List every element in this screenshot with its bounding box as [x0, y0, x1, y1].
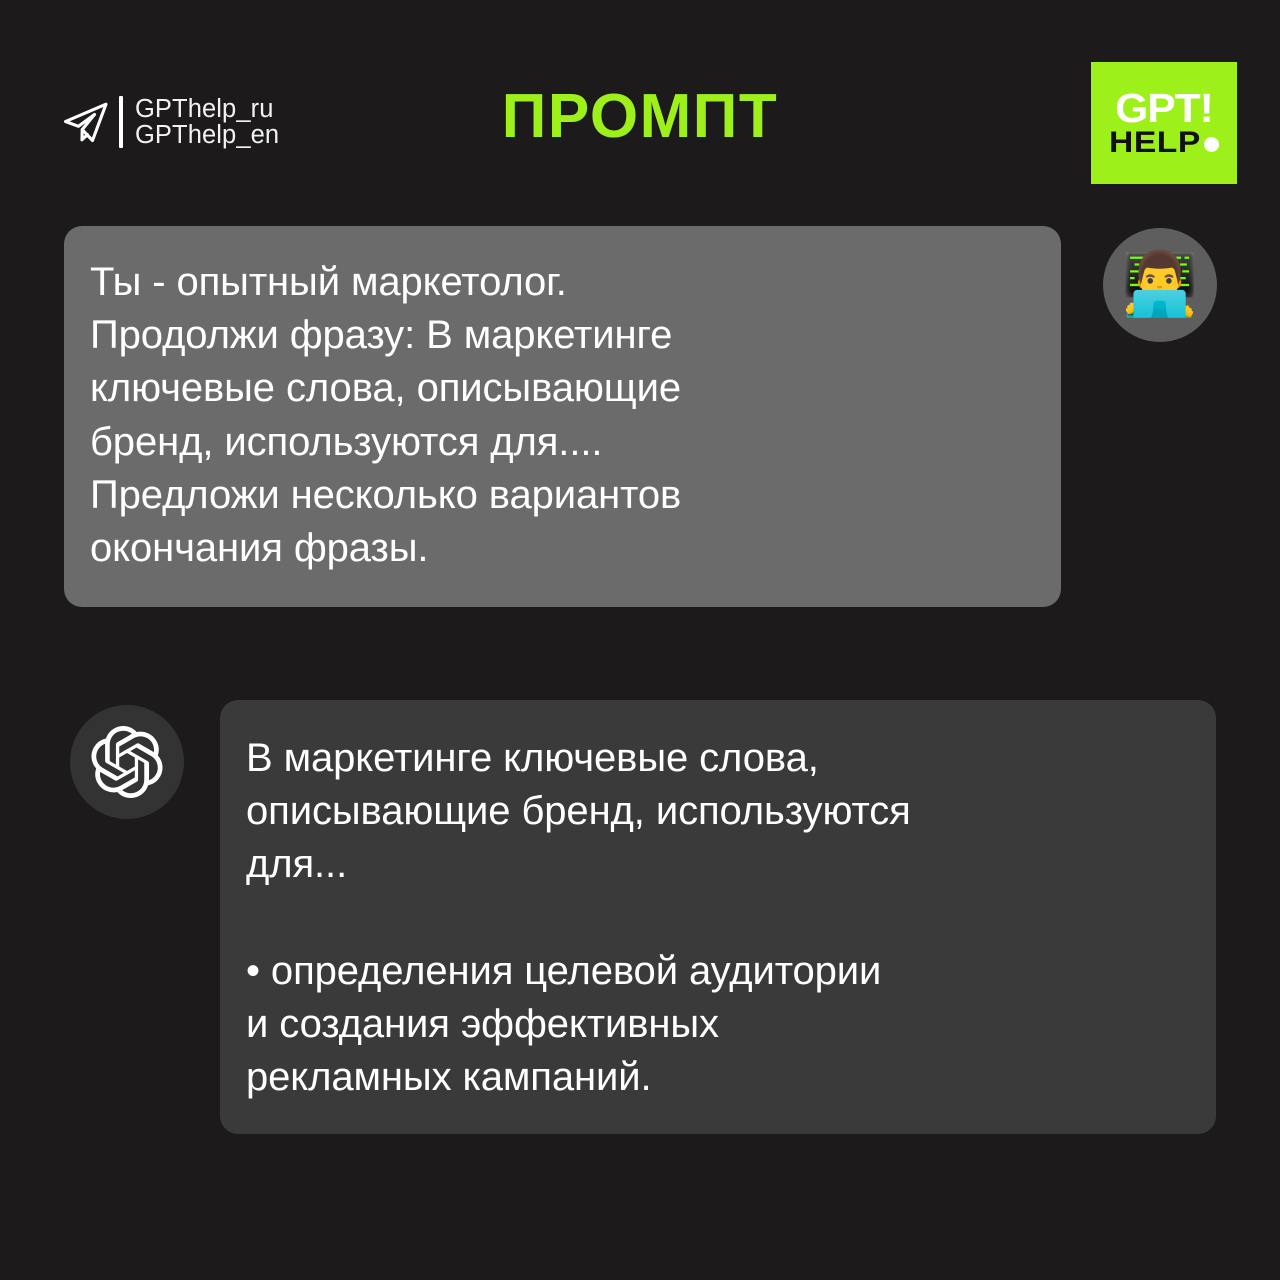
assistant-avatar — [70, 705, 184, 819]
man-technologist-emoji-icon: 👨‍💻 — [1121, 254, 1198, 316]
assistant-message-text: В маркетинге ключевые слова, описывающие… — [246, 732, 1190, 1104]
assistant-message-bubble[interactable]: В маркетинге ключевые слова, описывающие… — [220, 700, 1216, 1134]
user-message-text: Ты - опытный маркетолог. Продолжи фразу:… — [90, 256, 1031, 575]
user-message-bubble[interactable]: Ты - опытный маркетолог. Продолжи фразу:… — [64, 226, 1061, 607]
prompt-card: GPThelp_ru GPThelp_en ПРОМПТ GPT! HELP Т… — [0, 0, 1280, 1280]
chat-thread: Ты - опытный маркетолог. Продолжи фразу:… — [0, 0, 1280, 1280]
openai-logo-icon — [91, 726, 163, 798]
user-avatar: 👨‍💻 — [1103, 228, 1217, 342]
